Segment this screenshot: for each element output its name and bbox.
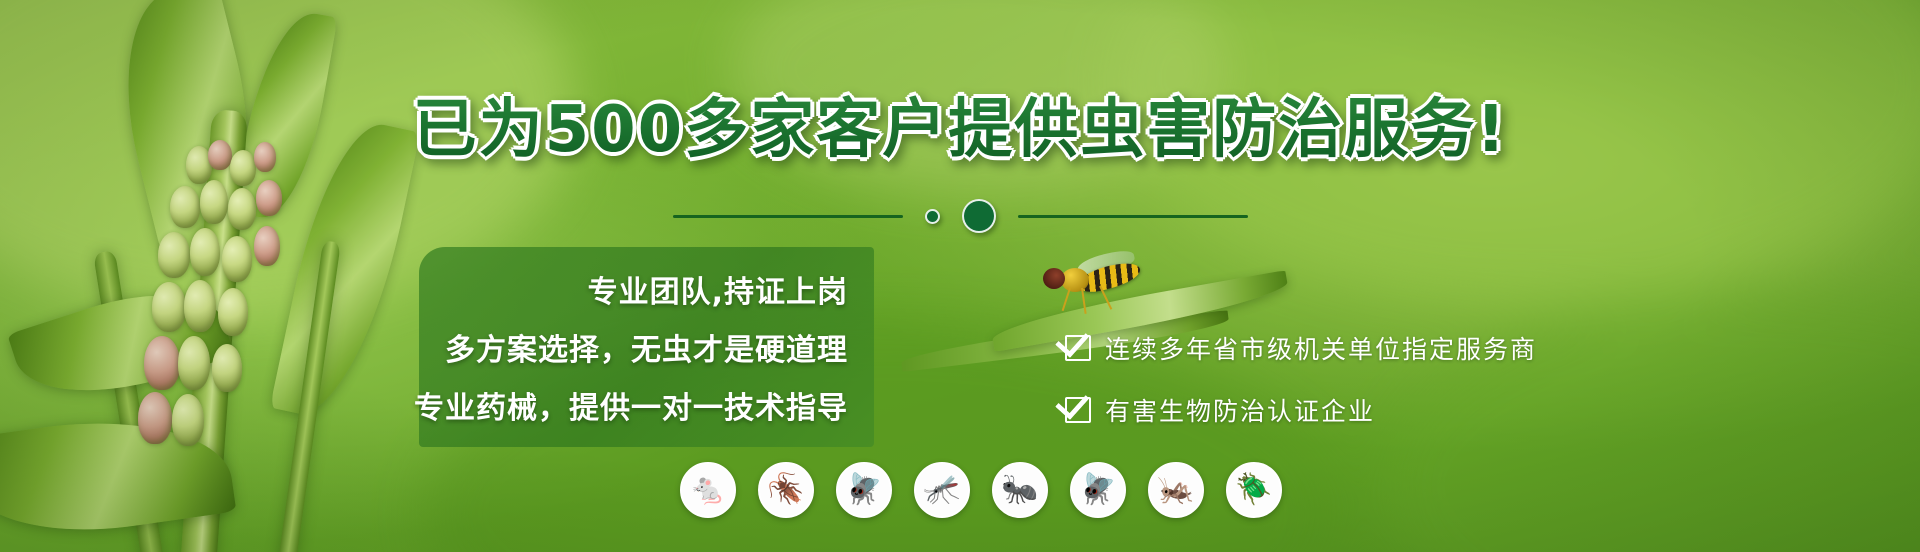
bedbug-icon[interactable]: 🪲: [1226, 462, 1282, 518]
feature-label: 有害生物防治认证企业: [1105, 392, 1375, 428]
slogan-line-3: 专业药械，提供一对一技术指导: [414, 383, 848, 427]
feature-label: 连续多年省市级机关单位指定服务商: [1105, 330, 1537, 366]
decorative-divider: [0, 196, 1920, 236]
cockroach-glyph: 🪳: [767, 475, 804, 505]
pest-control-hero-banner: 已为500多家客户提供虫害防治服务! 专业团队,持证上岗 多方案选择，无虫才是硬…: [0, 0, 1920, 552]
divider-line-left: [673, 215, 903, 218]
page-title: 已为500多家客户提供虫害防治服务!: [0, 78, 1920, 170]
bedbug-glyph: 🪲: [1235, 475, 1272, 505]
feature-item: 连续多年省市级机关单位指定服务商: [1065, 330, 1625, 366]
slogan-line-1: 专业团队,持证上岗: [588, 267, 848, 311]
rat-icon[interactable]: 🐁: [680, 462, 736, 518]
mosquito-icon[interactable]: 🦟: [914, 462, 970, 518]
divider-dot-small: [925, 209, 940, 224]
pest-icon-strip: 🐁 🪳 🪰 🦟 🐜 🪰 🦗 🪲: [680, 462, 1282, 518]
divider-dot-large: [962, 199, 996, 233]
ant-glyph: 🐜: [1001, 475, 1038, 505]
mosquito-glyph: 🦟: [923, 475, 960, 505]
ant-icon[interactable]: 🐜: [992, 462, 1048, 518]
checkbox-checked-icon: [1065, 335, 1091, 361]
flea-glyph: 🦗: [1157, 475, 1194, 505]
fly-glyph-2: 🪰: [1079, 475, 1116, 505]
feature-list: 连续多年省市级机关单位指定服务商 有害生物防治认证企业: [1065, 330, 1625, 428]
hoverfly-illustration: [1035, 250, 1155, 320]
slogan-panel: 专业团队,持证上岗 多方案选择，无虫才是硬道理 专业药械，提供一对一技术指导: [419, 247, 874, 447]
slogan-line-2: 多方案选择，无虫才是硬道理: [445, 325, 848, 369]
fly-icon[interactable]: 🪰: [836, 462, 892, 518]
feature-item: 有害生物防治认证企业: [1065, 392, 1625, 428]
checkbox-checked-icon: [1065, 397, 1091, 423]
divider-line-right: [1018, 215, 1248, 218]
fly-icon-2[interactable]: 🪰: [1070, 462, 1126, 518]
rat-glyph: 🐁: [689, 475, 726, 505]
flea-icon[interactable]: 🦗: [1148, 462, 1204, 518]
cockroach-icon[interactable]: 🪳: [758, 462, 814, 518]
fly-glyph: 🪰: [845, 475, 882, 505]
